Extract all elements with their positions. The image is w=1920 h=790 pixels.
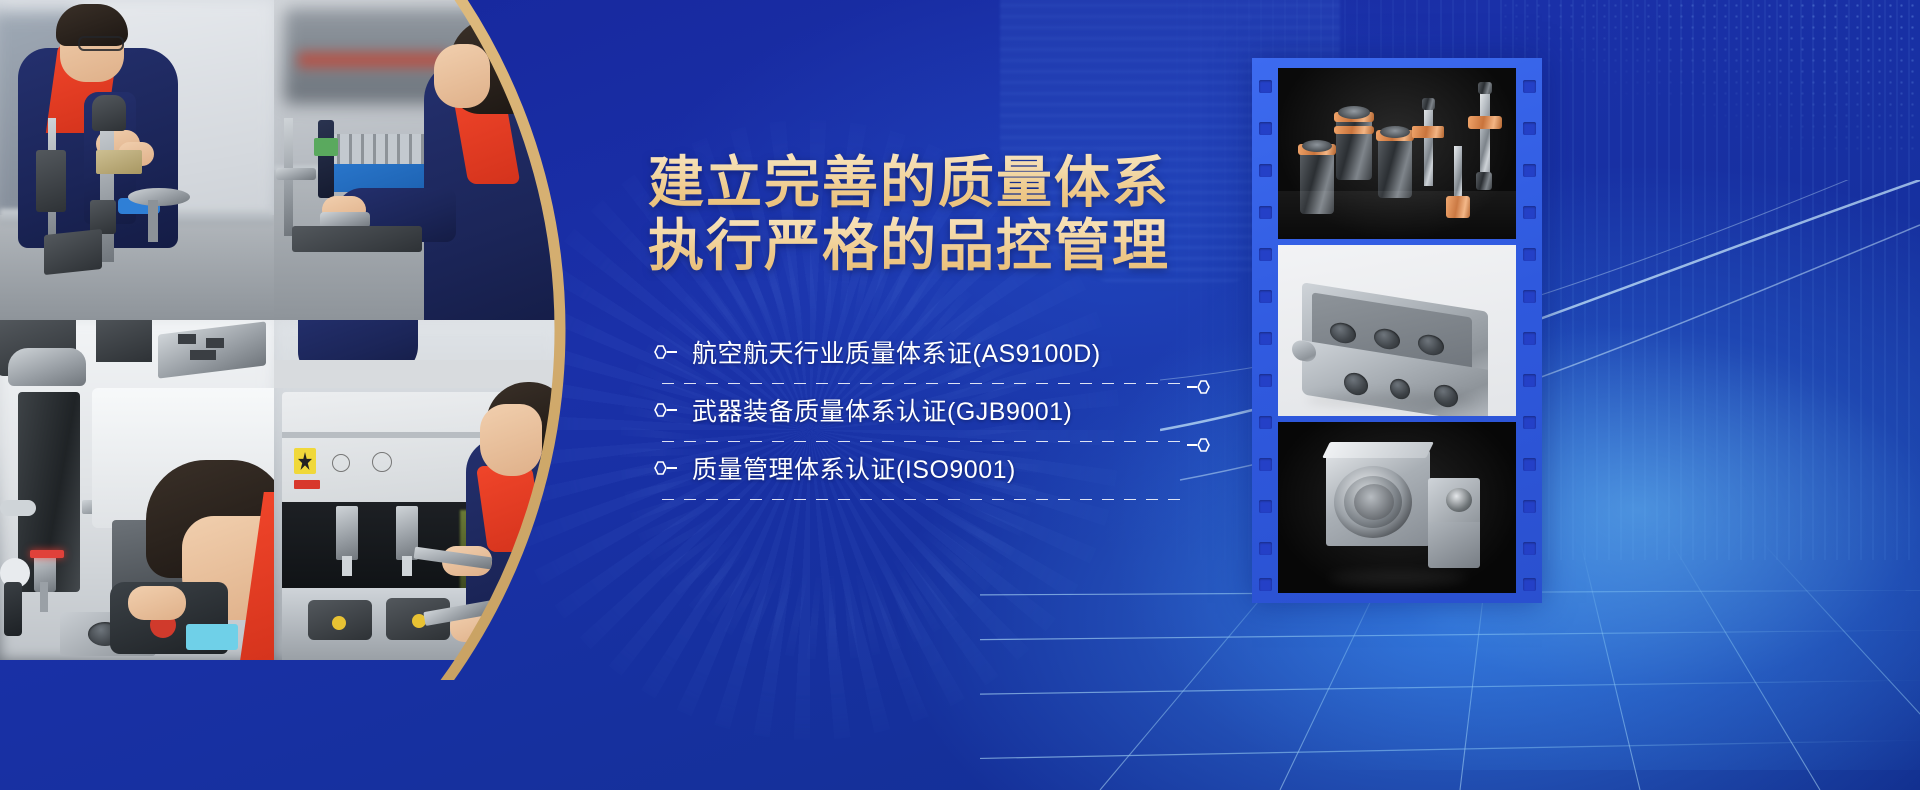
dashed-separator [662, 383, 1186, 384]
certification-list: 航空航天行业质量体系证(AS9100D) 武器装备质量体系认证(GJB9001) [652, 330, 1172, 504]
photo-operator-parts-tray [274, 0, 560, 320]
hexagon-endcap-icon [1186, 379, 1212, 395]
product-bearing-block [1278, 422, 1516, 593]
photo-cmm-measurement [0, 320, 274, 660]
hexagon-endcap-icon [1186, 437, 1212, 453]
headline-line-1: 建立完善的质量体系 [648, 152, 1188, 215]
photo-collage [0, 0, 560, 660]
hexagon-bullet-icon [652, 460, 678, 476]
certification-item: 航空航天行业质量体系证(AS9100D) [652, 330, 1172, 388]
photo-cnc-machine-operator [274, 320, 560, 660]
headline-block: 建立完善的质量体系 执行严格的品控管理 [648, 152, 1188, 277]
photo-inspector-height-gauge [0, 0, 274, 320]
product-precision-shafts-bushings [1278, 68, 1516, 239]
hexagon-bullet-icon [652, 344, 678, 360]
headline-line-2: 执行严格的品控管理 [648, 215, 1188, 278]
certification-label: 航空航天行业质量体系证(AS9100D) [692, 334, 1101, 370]
certification-item: 武器装备质量体系认证(GJB9001) [652, 388, 1172, 446]
dashed-separator [662, 441, 1186, 442]
dot-matrix-decoration [1500, 0, 1920, 150]
dashed-separator [662, 499, 1186, 500]
product-filmstrip [1252, 58, 1542, 603]
hexagon-bullet-icon [652, 402, 678, 418]
filmstrip-perforations-right [1516, 58, 1542, 603]
product-aluminum-housing [1278, 245, 1516, 416]
quality-system-banner: 建立完善的质量体系 执行严格的品控管理 航空航天行业质量体系证(AS9100D) [0, 0, 1920, 790]
filmstrip-perforations-left [1252, 58, 1278, 603]
certification-label: 武器装备质量体系认证(GJB9001) [692, 392, 1072, 428]
certification-item: 质量管理体系认证(ISO9001) [652, 446, 1172, 504]
certification-label: 质量管理体系认证(ISO9001) [692, 450, 1016, 486]
